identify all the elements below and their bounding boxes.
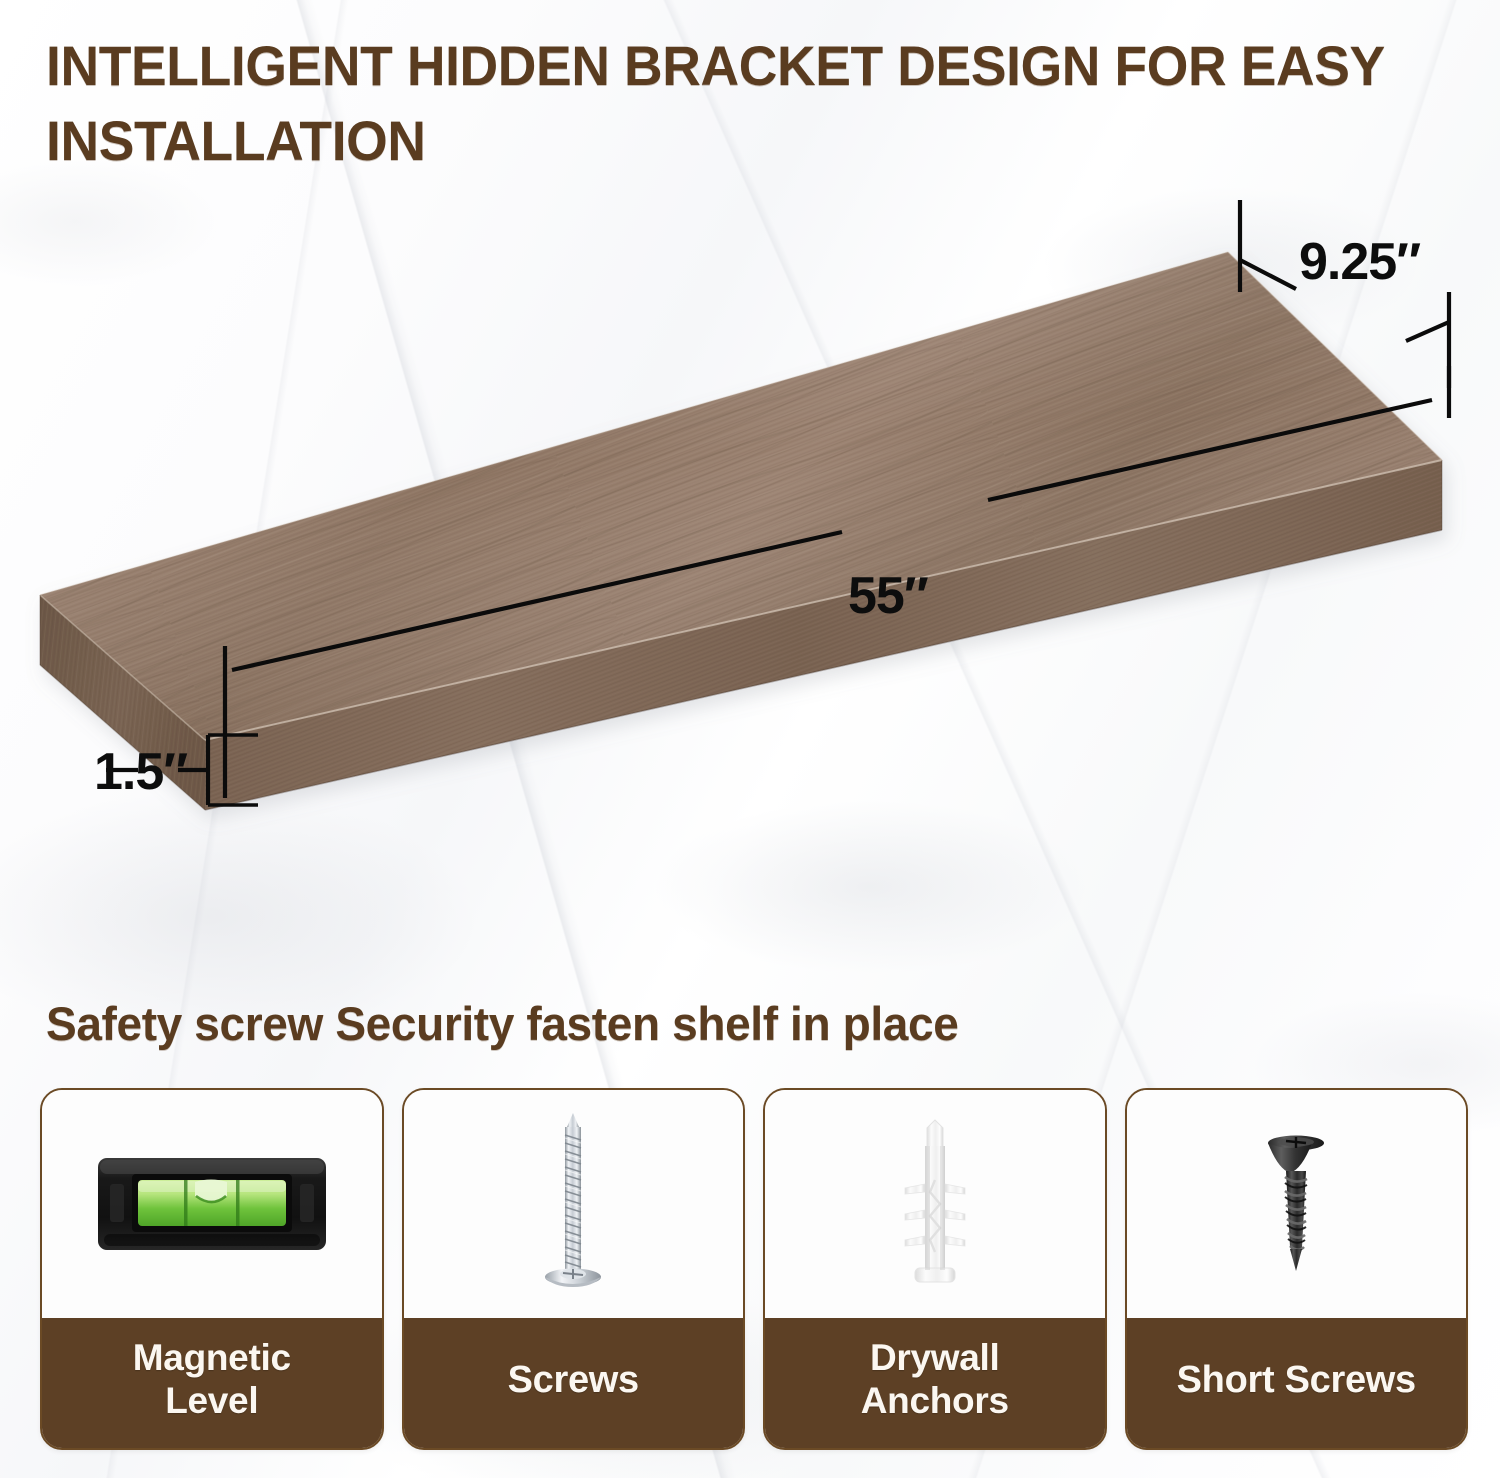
accessory-card-magnetic-level[interactable]: MagneticLevel — [40, 1088, 384, 1450]
dimension-label-length: 55″ — [848, 566, 928, 626]
drywall-anchor-icon — [887, 1118, 983, 1290]
accessory-card-screws[interactable]: Screws — [402, 1088, 746, 1450]
accessory-card-drywall-anchors[interactable]: DrywallAnchors — [763, 1088, 1107, 1450]
dimension-label-depth: 9.25″ — [1299, 232, 1420, 292]
card-caption: DrywallAnchors — [765, 1318, 1105, 1448]
card-media — [765, 1090, 1105, 1318]
card-caption: MagneticLevel — [42, 1318, 382, 1448]
accessory-card-list: MagneticLevel — [40, 1088, 1468, 1450]
card-media — [1127, 1090, 1467, 1318]
card-media — [404, 1090, 744, 1318]
accessory-card-short-screws[interactable]: Short Screws — [1125, 1088, 1469, 1450]
short-screw-icon — [1256, 1131, 1336, 1277]
magnetic-level-icon — [96, 1152, 328, 1256]
long-screw-icon — [541, 1111, 605, 1297]
card-label: MagneticLevel — [133, 1337, 291, 1423]
section-subtitle: Safety screw Security fasten shelf in pl… — [46, 996, 958, 1051]
page-title: INTELLIGENT HIDDEN BRACKET DESIGN FOR EA… — [46, 28, 1402, 178]
card-caption: Short Screws — [1127, 1318, 1467, 1448]
card-label: Screws — [508, 1358, 639, 1402]
card-label: DrywallAnchors — [861, 1337, 1009, 1423]
card-label: Short Screws — [1177, 1358, 1416, 1402]
card-media — [42, 1090, 382, 1318]
product-illustration — [0, 170, 1500, 850]
card-caption: Screws — [404, 1318, 744, 1448]
dimension-label-thickness: 1.5″ — [94, 742, 187, 802]
